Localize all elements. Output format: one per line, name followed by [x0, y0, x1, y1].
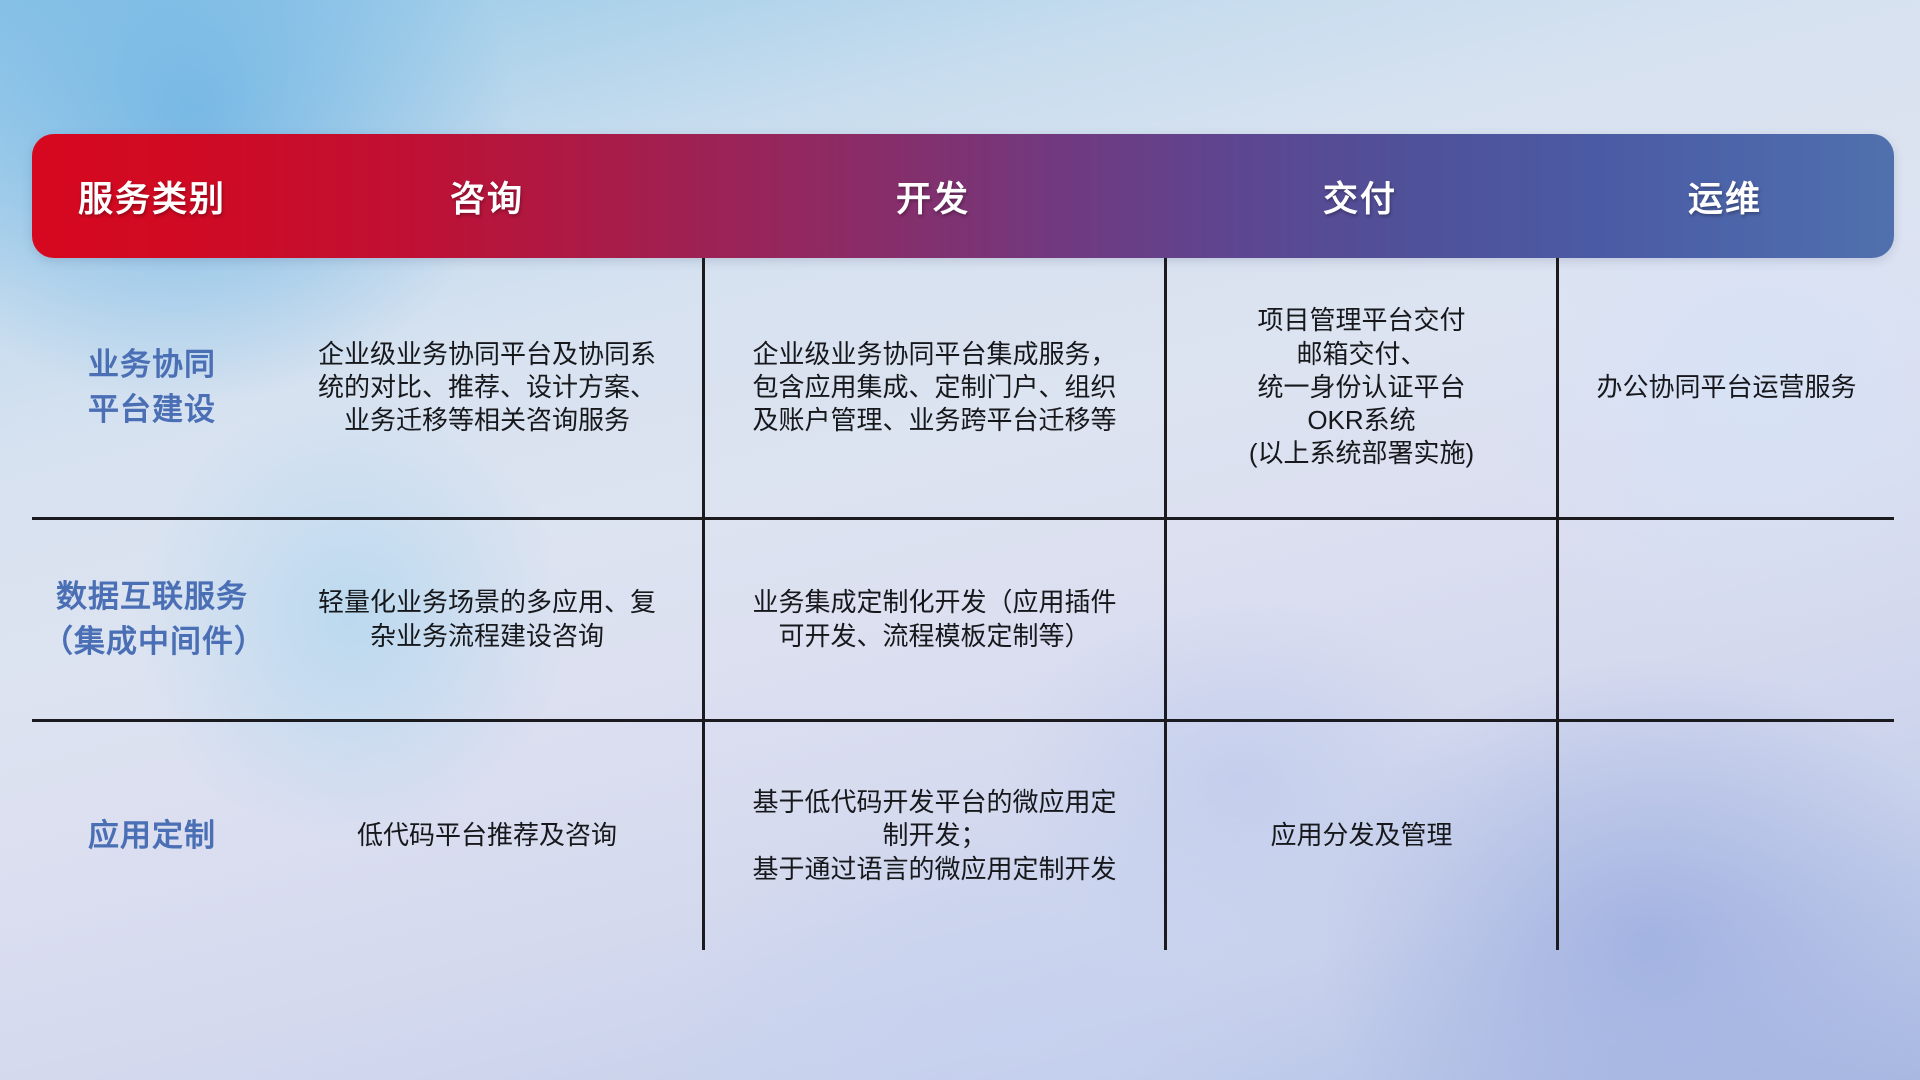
row-category-cell: 业务协同 平台建设 [32, 258, 272, 517]
row-category-label: 应用定制 [88, 814, 216, 859]
cell-delivery: 项目管理平台交付 邮箱交付、 统一身份认证平台 OKR系统 (以上系统部署实施) [1164, 258, 1556, 517]
cell-text: 企业级业务协同平台集成服务， 包含应用集成、定制门户、组织 及账户管理、业务跨平… [752, 338, 1116, 438]
service-matrix-table: 服务类别 咨询 开发 交付 运维 业务协同 平台建设 企业级业务协同平台及协同系… [32, 134, 1894, 950]
column-header-operations: 运维 [1556, 171, 1894, 222]
cell-consulting: 低代码平台推荐及咨询 [272, 722, 702, 950]
column-header-development: 开发 [702, 171, 1164, 222]
cell-text: 低代码平台推荐及咨询 [357, 819, 617, 852]
table-header-row: 服务类别 咨询 开发 交付 运维 [32, 134, 1894, 258]
table-row: 业务协同 平台建设 企业级业务协同平台及协同系 统的对比、推荐、设计方案、 业务… [32, 258, 1894, 520]
cell-operations [1556, 722, 1894, 950]
cell-text: 办公协同平台运营服务 [1596, 371, 1856, 404]
cell-development: 基于低代码开发平台的微应用定 制开发； 基于通过语言的微应用定制开发 [702, 722, 1164, 950]
cell-operations: 办公协同平台运营服务 [1556, 258, 1894, 517]
cell-text: 项目管理平台交付 邮箱交付、 统一身份认证平台 OKR系统 (以上系统部署实施) [1249, 304, 1474, 470]
row-category-cell: 数据互联服务 （集成中间件） [32, 520, 272, 719]
table-row: 应用定制 低代码平台推荐及咨询 基于低代码开发平台的微应用定 制开发； 基于通过… [32, 722, 1894, 950]
column-header-delivery: 交付 [1164, 171, 1556, 222]
cell-text: 企业级业务协同平台及协同系 统的对比、推荐、设计方案、 业务迁移等相关咨询服务 [318, 338, 656, 438]
cell-operations [1556, 520, 1894, 719]
cell-text: 基于低代码开发平台的微应用定 制开发； 基于通过语言的微应用定制开发 [752, 786, 1116, 886]
cell-text: 轻量化业务场景的多应用、复 杂业务流程建设咨询 [318, 586, 656, 653]
cell-development: 企业级业务协同平台集成服务， 包含应用集成、定制门户、组织 及账户管理、业务跨平… [702, 258, 1164, 517]
table-row: 数据互联服务 （集成中间件） 轻量化业务场景的多应用、复 杂业务流程建设咨询 业… [32, 520, 1894, 722]
column-header-consulting: 咨询 [272, 171, 702, 222]
cell-consulting: 企业级业务协同平台及协同系 统的对比、推荐、设计方案、 业务迁移等相关咨询服务 [272, 258, 702, 517]
row-category-label: 数据互联服务 （集成中间件） [42, 575, 262, 665]
cell-delivery: 应用分发及管理 [1164, 722, 1556, 950]
cell-consulting: 轻量化业务场景的多应用、复 杂业务流程建设咨询 [272, 520, 702, 719]
slide-canvas: 服务类别 咨询 开发 交付 运维 业务协同 平台建设 企业级业务协同平台及协同系… [0, 0, 1920, 1080]
cell-delivery [1164, 520, 1556, 719]
cell-text: 应用分发及管理 [1270, 819, 1452, 852]
cell-development: 业务集成定制化开发（应用插件 可开发、流程模板定制等） [702, 520, 1164, 719]
row-category-label: 业务协同 平台建设 [88, 343, 216, 433]
cell-text: 业务集成定制化开发（应用插件 可开发、流程模板定制等） [752, 586, 1116, 653]
column-header-service-category: 服务类别 [32, 171, 272, 222]
row-category-cell: 应用定制 [32, 722, 272, 950]
table-body: 业务协同 平台建设 企业级业务协同平台及协同系 统的对比、推荐、设计方案、 业务… [32, 258, 1894, 950]
